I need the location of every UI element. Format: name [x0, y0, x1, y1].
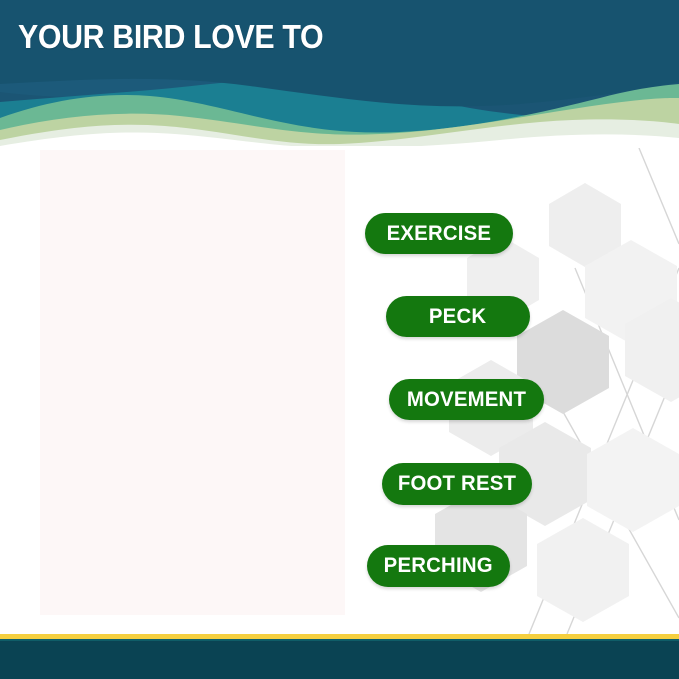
feature-pill-perching[interactable]: PERCHING [367, 545, 510, 587]
feature-label: PECK [429, 305, 486, 329]
feature-label: EXERCISE [387, 222, 492, 246]
feature-pill-movement[interactable]: MOVEMENT [389, 379, 544, 420]
feature-pill-exercise[interactable]: EXERCISE [365, 213, 513, 254]
feature-label: MOVEMENT [407, 388, 526, 412]
infographic-page: YOUR BIRD LOVE TO [0, 0, 679, 679]
footer-bar [0, 634, 679, 679]
product-photo [40, 150, 345, 615]
feature-label: FOOT REST [398, 472, 516, 496]
footer-dark-band [0, 641, 679, 679]
page-title: YOUR BIRD LOVE TO [18, 18, 323, 56]
feature-label: PERCHING [384, 554, 493, 578]
photo-background [40, 150, 345, 615]
content-area: EXERCISE PECK MOVEMENT FOOT REST PERCHIN… [0, 148, 679, 634]
feature-pill-foot-rest[interactable]: FOOT REST [382, 463, 532, 505]
feature-pill-peck[interactable]: PECK [386, 296, 530, 337]
header-banner: YOUR BIRD LOVE TO [0, 0, 679, 148]
